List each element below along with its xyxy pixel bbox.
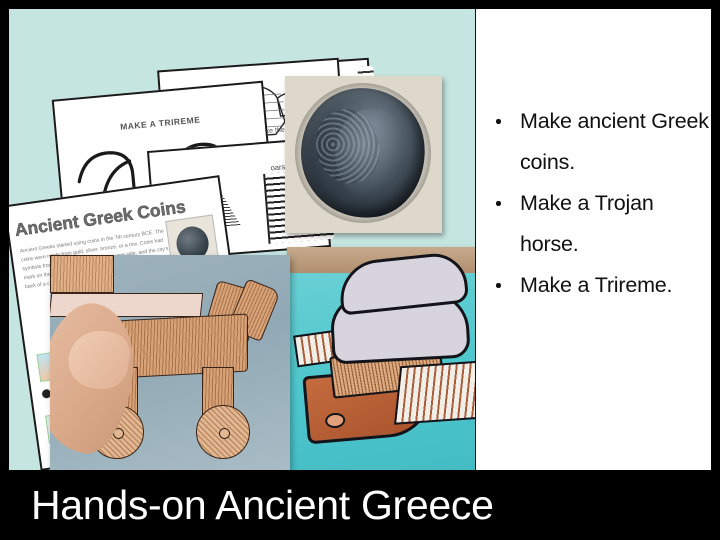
page-title: Hands-on Ancient Greece [0, 485, 494, 526]
hull-eye-icon [325, 412, 346, 429]
slide: Make the Trojan horse MAKE A TRIREME dec… [0, 0, 720, 540]
bullet-dot-icon [496, 201, 501, 206]
content-frame: Make the Trojan horse MAKE A TRIREME dec… [9, 9, 711, 470]
bullet-text-1: Make ancient Greek coins. [520, 109, 709, 174]
bullet-dot-icon [496, 283, 501, 288]
bullet-list: Make ancient Greek coins. Make a Trojan … [476, 101, 711, 306]
bullet-dot-icon [496, 119, 501, 124]
bullet-panel: Make ancient Greek coins. Make a Trojan … [475, 9, 711, 470]
bullet-text-3: Make a Trireme. [520, 273, 672, 297]
oar-bank-right [394, 359, 475, 425]
bullet-text-2: Make a Trojan horse. [520, 191, 654, 256]
bullet-item-1: Make ancient Greek coins. [476, 101, 711, 183]
collage-area: Make the Trojan horse MAKE A TRIREME dec… [9, 9, 475, 470]
trireme-photo [287, 247, 475, 470]
coin-rim [287, 76, 439, 231]
trojan-horse-photo [50, 255, 290, 470]
horse-wheel-right [196, 405, 250, 459]
bullet-item-2: Make a Trojan horse. [476, 183, 711, 265]
clay-coin-photo [285, 76, 442, 233]
bullet-item-3: Make a Trireme. [476, 265, 711, 306]
oars-label: oars [270, 162, 285, 172]
horse-saddle-panel [50, 255, 114, 293]
title-bar: Hands-on Ancient Greece [0, 470, 720, 540]
